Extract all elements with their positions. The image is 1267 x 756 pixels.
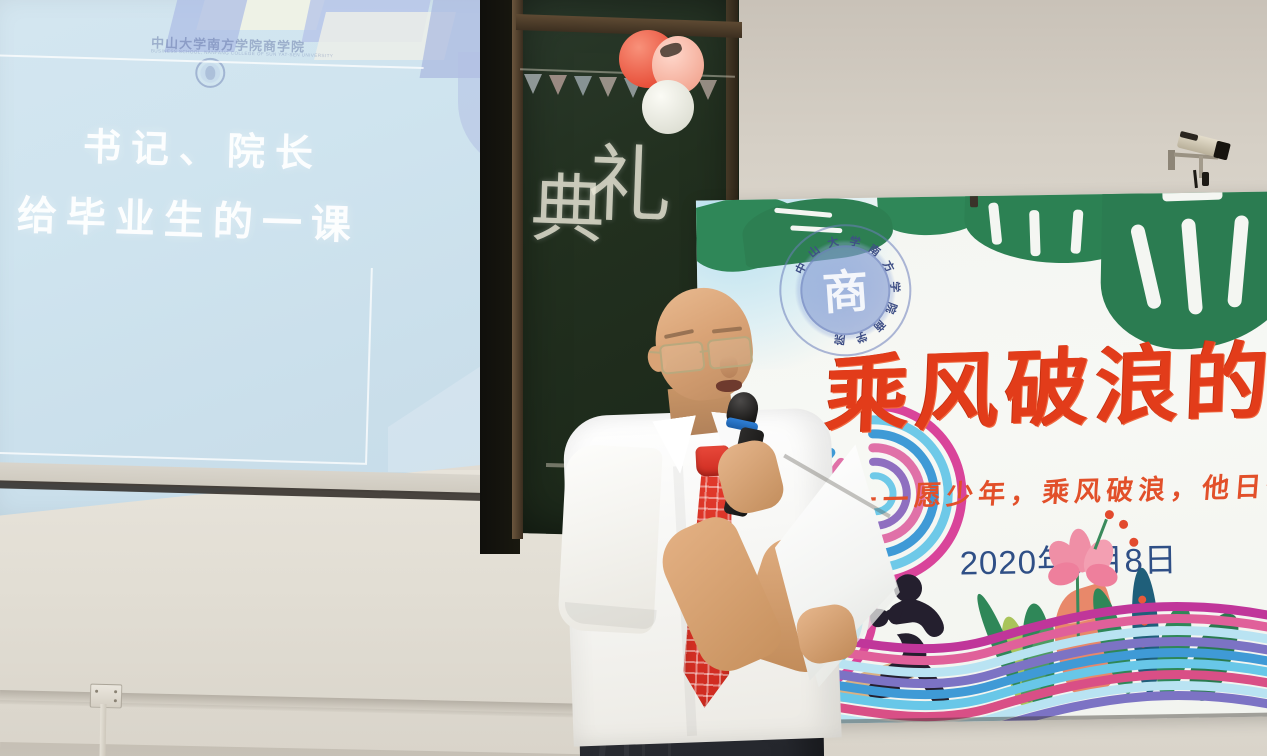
camera-cable [1193, 170, 1198, 188]
projection-screen: 中山大学南方学院商学院 BUSINESS SCHOOL, NANFANG COL… [0, 0, 548, 522]
leaf-vein [1130, 223, 1163, 310]
leaf-vein [1181, 218, 1203, 315]
leaf-vein [1070, 209, 1083, 254]
bunting-flag [524, 74, 542, 94]
leaf-vein [774, 208, 832, 218]
banner-clip [970, 194, 978, 207]
bunting-flag [699, 80, 717, 100]
slide-frame-lower [0, 256, 373, 465]
outlet-screw [95, 690, 98, 693]
slide-title-line-1: 书记、院长 [82, 116, 439, 182]
speaker-presenter [560, 270, 920, 756]
camera-cable-end [1202, 172, 1209, 186]
slide-title: 书记、院长 给毕业生的一课 [16, 114, 440, 253]
leaf-vein [1227, 215, 1249, 308]
outlet-screw [114, 690, 117, 693]
bunting-flag [574, 76, 592, 96]
slide-title-line-2: 给毕业生的一课 [16, 183, 438, 253]
camera-lens [1213, 141, 1231, 161]
mouth [716, 379, 743, 393]
classroom-scene: 中山大学南方学院商学院 BUSINESS SCHOOL, NANFANG COL… [0, 0, 1267, 756]
chalk-character-2: 礼 [586, 117, 674, 241]
monstera-leaf-4 [1099, 191, 1267, 351]
flower-bud [1105, 510, 1114, 519]
projected-slide: 中山大学南方学院商学院 BUSINESS SCHOOL, NANFANG COL… [0, 0, 548, 522]
security-camera [1168, 128, 1238, 188]
flower-bud [1119, 520, 1128, 529]
eyeglass-lens-left [659, 340, 706, 374]
bunting-flag [599, 77, 617, 97]
flower-bud [1129, 538, 1138, 547]
leaf-vein [988, 202, 1002, 245]
balloon-white [642, 80, 694, 134]
leaf-vein [1162, 191, 1222, 201]
wall-conduit [100, 704, 107, 756]
bunting-flag [549, 75, 567, 95]
eyeglass-lens-right [707, 335, 754, 369]
leaf-vein [1029, 210, 1041, 256]
outlet-screw [114, 699, 117, 702]
